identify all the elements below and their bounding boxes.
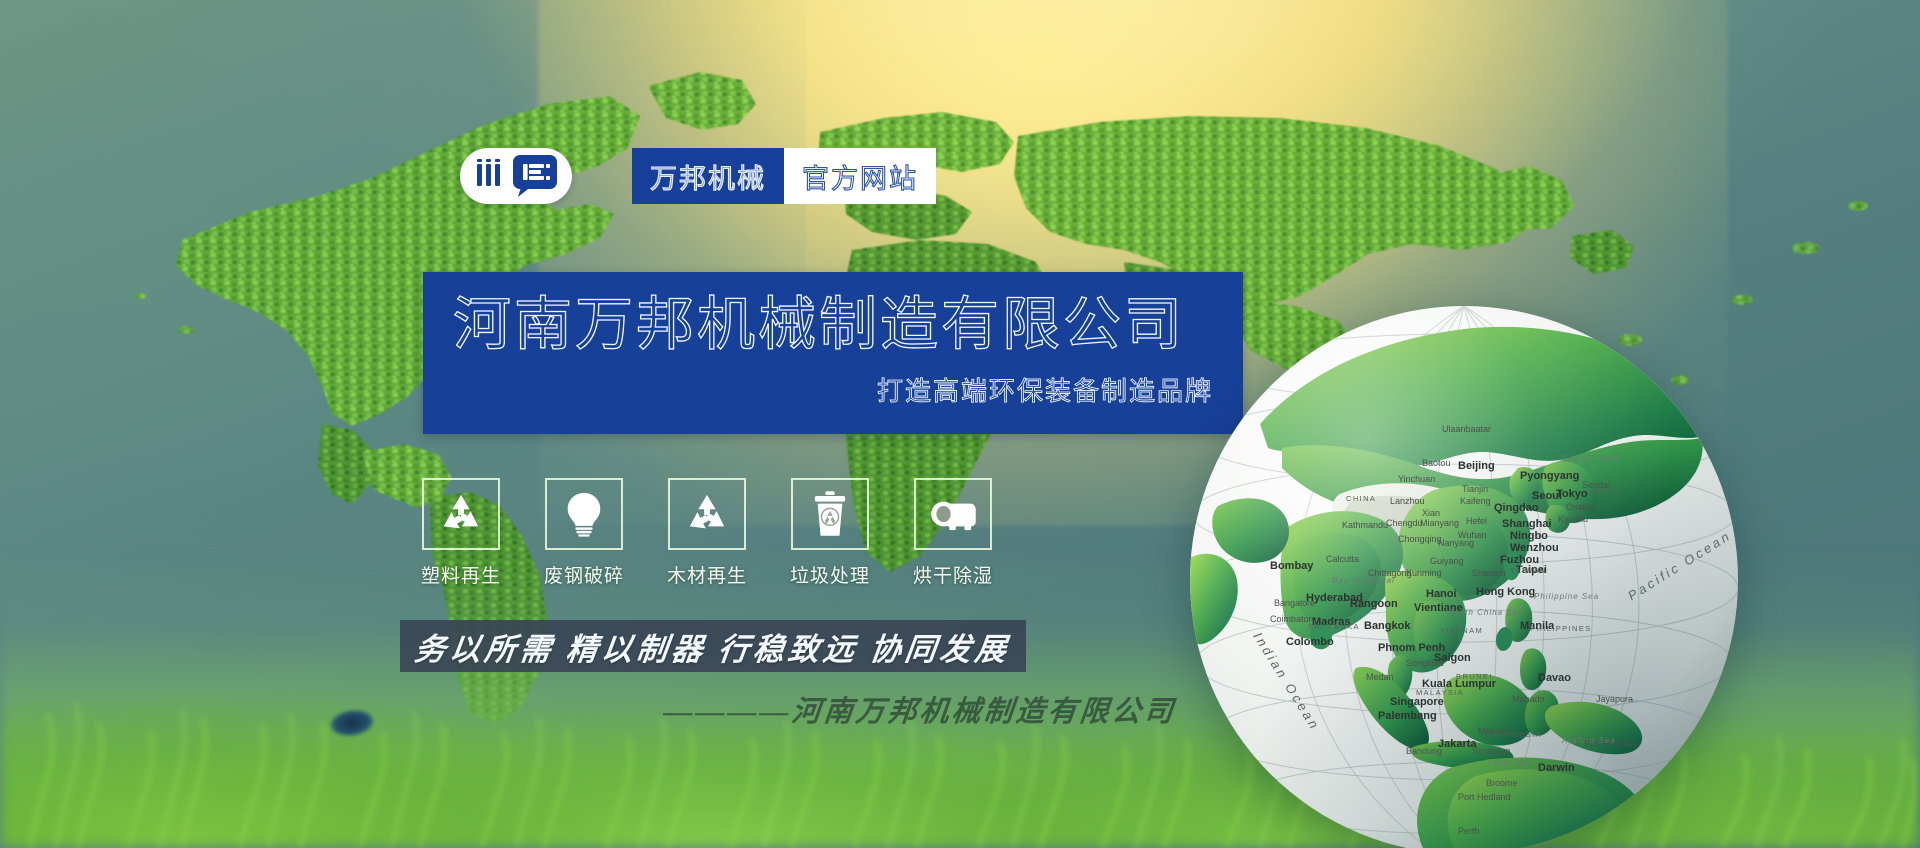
feature-item-wood-recycling[interactable]: 木材再生	[668, 478, 746, 588]
brand-bar: 万邦机械 官方网站	[460, 148, 936, 204]
feature-icon-box	[914, 478, 992, 550]
feature-item-plastic-recycling[interactable]: 塑料再生	[422, 478, 500, 588]
feature-label: 废钢破碎	[544, 561, 624, 588]
feature-icon-box	[545, 478, 623, 550]
globe-map	[1190, 306, 1738, 848]
dryer-machine-icon	[928, 496, 978, 532]
feature-item-waste-treatment[interactable]: 垃圾处理	[791, 478, 869, 588]
recycle-icon	[684, 492, 730, 536]
tab-wanbang-jixie[interactable]: 万邦机械	[632, 148, 784, 204]
logo-w-mark	[475, 159, 505, 193]
feature-icon-list: 塑料再生 废钢破碎	[422, 478, 992, 588]
page-subtitle: 打造高端环保装备制造品牌	[453, 371, 1213, 408]
feature-icon-box	[791, 478, 869, 550]
headline-panel: 河南万邦机械制造有限公司 打造高端环保装备制造品牌	[423, 272, 1243, 434]
recycle-icon	[438, 492, 484, 536]
lightbulb-icon	[562, 491, 606, 537]
feature-label: 烘干除湿	[913, 561, 993, 588]
feature-item-scrap-steel-crushing[interactable]: 废钢破碎	[545, 478, 623, 588]
slogan-bar: 务以所需 精以制器 行稳致远 协同发展	[400, 620, 1026, 672]
feature-label: 垃圾处理	[790, 561, 870, 588]
earth-globe: UlaanbaatarBeijingBaotouYinchuanLanzhouX…	[1190, 306, 1738, 848]
wanbang-logo[interactable]	[460, 148, 572, 204]
feature-label: 塑料再生	[421, 561, 501, 588]
slogan-attribution: ————河南万邦机械制造有限公司	[638, 688, 1202, 730]
trash-bin-recycle-icon	[812, 491, 848, 537]
page-title: 河南万邦机械制造有限公司	[453, 294, 1213, 357]
feature-icon-box	[422, 478, 500, 550]
tab-official-site[interactable]: 官方网站	[784, 148, 936, 204]
hero-banner: 万邦机械 官方网站 河南万邦机械制造有限公司 打造高端环保装备制造品牌 塑料再生	[0, 0, 1920, 848]
feature-item-drying-dehumidifying[interactable]: 烘干除湿	[914, 478, 992, 588]
logo-b-bubble	[512, 154, 558, 198]
slogan-text: 务以所需 精以制器 行稳致远 协同发展	[413, 624, 1014, 669]
feature-icon-box	[668, 478, 746, 550]
feature-label: 木材再生	[667, 561, 747, 588]
site-tabs: 万邦机械 官方网站	[632, 148, 936, 204]
